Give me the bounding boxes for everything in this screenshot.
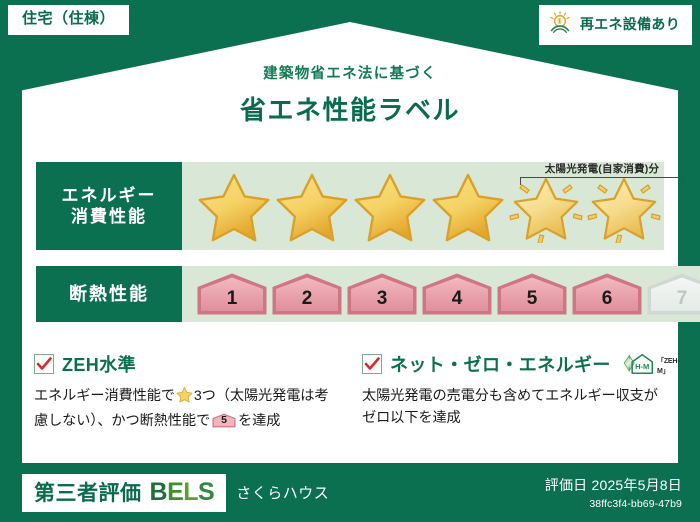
star-icon-filled	[430, 169, 506, 243]
third-party-evaluation-label: 第三者評価	[34, 483, 142, 504]
title-subtitle: 建築物省エネ法に基づく	[0, 62, 700, 83]
bels-energy-label: { "header": { "dwelling_tag": "住宅（住棟）", …	[0, 0, 700, 522]
criteria-net-zero-energy: ネット・ゼロ・エネルギー H-M 「ZEH-M」 太陽光発電の売電分も含めてエネ…	[362, 352, 668, 430]
evaluation-uid: 38ffc3f4-bb69-47b9	[545, 498, 682, 510]
criteria-nze-title: ネット・ゼロ・エネルギー	[390, 351, 611, 377]
energy-performance-row: エネルギー 消費性能 太陽光発電(自家消費)分	[36, 162, 664, 250]
criteria-zeh-text-1: エネルギー消費性能で	[34, 388, 175, 404]
energy-label-line2: 消費性能	[71, 206, 147, 227]
star-icon-inline	[176, 386, 193, 410]
evaluation-date: 評価日 2025年5月8日	[545, 475, 682, 495]
insulation-level-number: 6	[571, 288, 643, 310]
energy-performance-panel: 太陽光発電(自家消費)分	[182, 162, 664, 250]
criteria-zeh: ZEH水準 エネルギー消費性能で3つ（太陽光発電は考慮しない）、かつ断熱性能で5…	[34, 352, 334, 433]
insulation-level-scale: 1 2 3 4	[182, 272, 700, 316]
dwelling-type-label: 住宅（住棟）	[22, 10, 115, 27]
footer-bar: 第三者評価 BELS さくらハウス 評価日 2025年5月8日 38ffc3f4…	[0, 463, 700, 522]
insulation-level-number: 4	[421, 288, 493, 310]
star-icon-solar-sparkle	[586, 169, 662, 243]
company-name: さくらハウス	[236, 482, 329, 503]
insulation-level-badge: 5	[496, 272, 568, 316]
insulation-level-number-inline: 5	[212, 412, 236, 429]
zeh-m-logo-caption: 「ZEH-M」	[657, 356, 686, 378]
insulation-level-badge: 2	[271, 272, 343, 316]
criteria-nze-header: ネット・ゼロ・エネルギー H-M 「ZEH-M」	[362, 352, 668, 376]
insulation-level-badge: 6	[571, 272, 643, 316]
insulation-performance-label: 断熱性能	[36, 266, 182, 322]
insulation-level-badge: 3	[346, 272, 418, 316]
star-icon-filled	[352, 169, 428, 243]
star-rating	[182, 169, 662, 243]
star-icon-filled	[274, 169, 350, 243]
criteria-zeh-title: ZEH水準	[62, 351, 136, 377]
insulation-level-number: 3	[346, 288, 418, 310]
insulation-level-badge: 1	[196, 272, 268, 316]
energy-label-line1: エネルギー	[62, 185, 157, 206]
renewable-equipment-badge: 再エネ設備あり	[539, 5, 692, 45]
insulation-level-number: 2	[271, 288, 343, 310]
criteria-nze-body: 太陽光発電の売電分も含めてエネルギー収支がゼロ以下を達成	[362, 385, 668, 430]
insulation-level-badge: 4	[421, 272, 493, 316]
insulation-level-number: 1	[196, 288, 268, 310]
insulation-level-number: 5	[496, 288, 568, 310]
check-icon	[362, 354, 382, 374]
energy-performance-label: エネルギー 消費性能	[36, 162, 182, 250]
insulation-label-line1: 断熱性能	[69, 283, 149, 306]
evaluation-meta: 評価日 2025年5月8日 38ffc3f4-bb69-47b9	[545, 475, 682, 510]
insulation-performance-row: 断熱性能 1	[36, 266, 664, 322]
insulation-level-badge-inactive: 7	[646, 272, 700, 316]
title-main: 省エネ性能ラベル	[0, 90, 700, 127]
renewable-equipment-label: 再エネ設備あり	[580, 17, 680, 32]
zeh-m-logo: H-M 「ZEH-M」	[620, 350, 686, 378]
criteria-zeh-text-3: を達成	[238, 413, 280, 429]
insulation-level-badge-inline: 5	[212, 412, 236, 429]
insulation-performance-panel: 1 2 3 4	[182, 266, 700, 322]
solar-sun-icon	[547, 10, 573, 39]
bels-certification-box: 第三者評価 BELS	[22, 474, 226, 512]
check-icon	[34, 354, 54, 374]
svg-text:H-M: H-M	[635, 362, 649, 371]
title-block: 建築物省エネ法に基づく 省エネ性能ラベル	[0, 62, 700, 127]
star-icon-filled	[196, 169, 272, 243]
criteria-zeh-body: エネルギー消費性能で3つ（太陽光発電は考慮しない）、かつ断熱性能で5を達成	[34, 385, 334, 433]
star-icon-solar-sparkle	[508, 169, 584, 243]
dwelling-type-tag: 住宅（住棟）	[8, 5, 129, 35]
bels-logo: BELS	[150, 480, 215, 505]
insulation-level-number: 7	[646, 288, 700, 310]
criteria-zeh-header: ZEH水準	[34, 352, 334, 376]
